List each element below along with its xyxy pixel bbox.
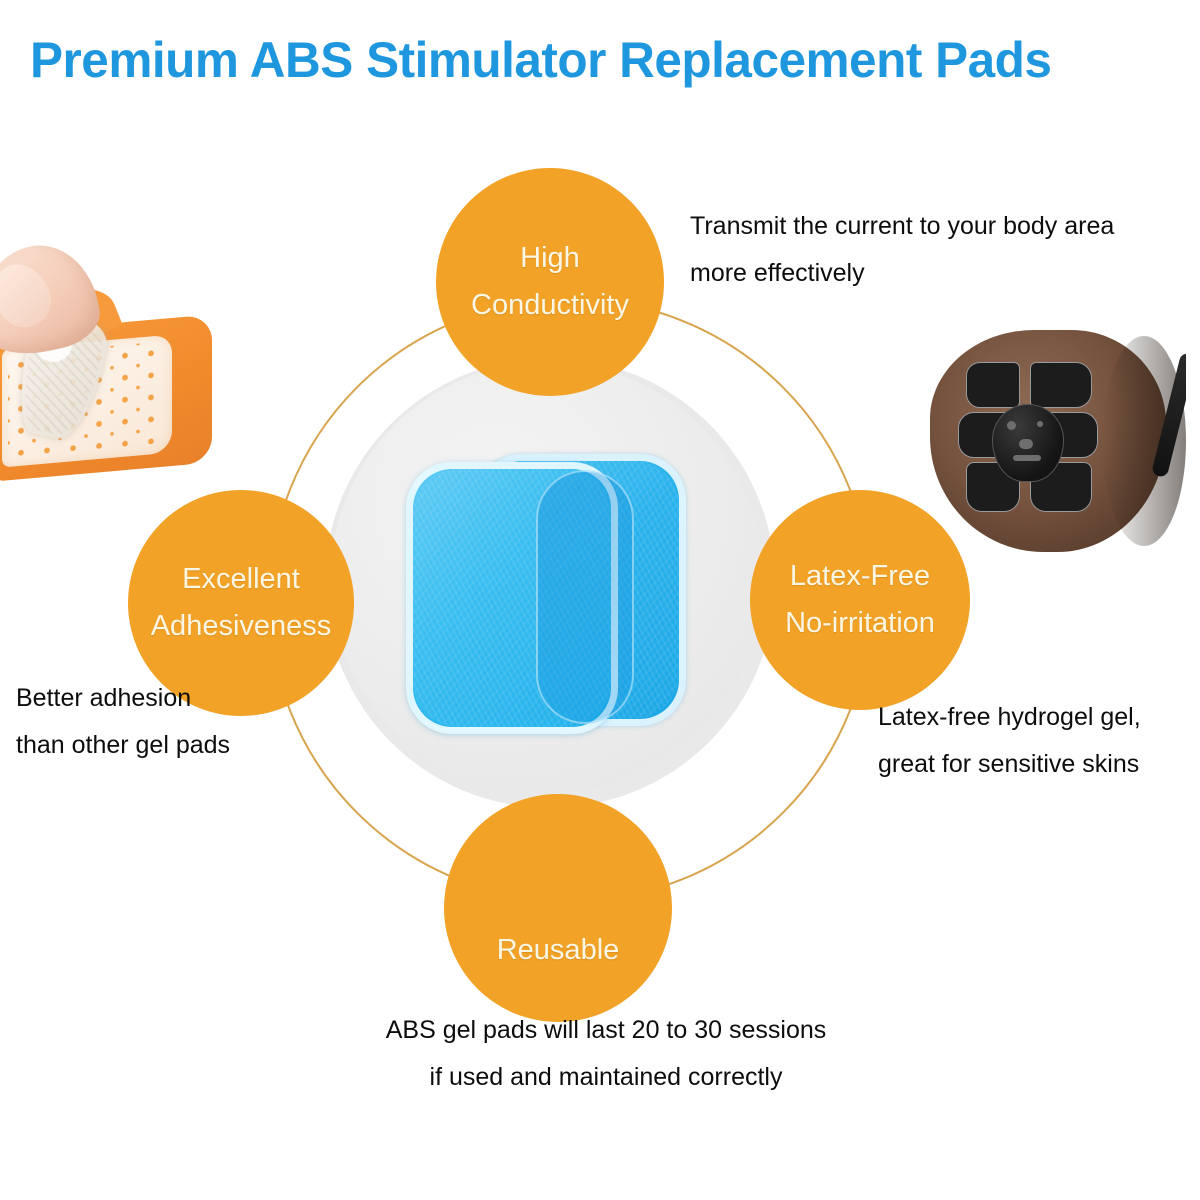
caption-high-conductivity: Transmit the current to your body area m…	[690, 203, 1160, 297]
feature-label-line: Excellent	[182, 556, 300, 603]
caption-line: ABS gel pads will last 20 to 30 sessions	[326, 1007, 886, 1054]
title-bar: Premium ABS Stimulator Replacement Pads	[0, 26, 1200, 98]
caption-line: if used and maintained correctly	[326, 1054, 886, 1101]
fingernail-icon	[0, 255, 60, 336]
abs-stimulator-on-torso-photo	[916, 330, 1186, 552]
feature-circle-latex-free[interactable]: Latex-Free No-irritation	[750, 490, 970, 710]
feature-circle-high-conductivity[interactable]: High Conductivity	[436, 168, 664, 396]
abs-stimulator-device	[958, 360, 1100, 512]
feature-label-line: High	[520, 235, 580, 282]
blue-hydrogel-gel-pads	[398, 448, 698, 738]
page-title: Premium ABS Stimulator Replacement Pads	[30, 26, 1164, 94]
feature-label-line: Adhesiveness	[151, 603, 332, 650]
caption-line: than other gel pads	[16, 722, 316, 769]
gel-pad-capsule-overlay	[536, 470, 634, 724]
hub-button-icon	[1007, 421, 1016, 430]
caption-latex-free: Latex-free hydrogel gel, great for sensi…	[878, 694, 1188, 788]
caption-excellent-adhesiveness: Better adhesion than other gel pads	[16, 675, 316, 769]
caption-line: Better adhesion	[16, 675, 316, 722]
caption-line: Transmit the current to your body area	[690, 203, 1160, 250]
feature-label-line: Conductivity	[471, 282, 629, 329]
abs-pad-top-left	[966, 362, 1020, 408]
infographic-page: Premium ABS Stimulator Replacement Pads	[0, 0, 1200, 1200]
feature-label-line: Reusable	[497, 927, 620, 974]
caption-line: Latex-free hydrogel gel,	[878, 694, 1188, 741]
hub-indicator-icon	[1037, 421, 1043, 427]
abs-pad-top-right	[1030, 362, 1092, 408]
feature-label-line: No-irritation	[785, 600, 935, 647]
hub-display-icon	[1019, 439, 1033, 449]
hub-logo-icon	[1013, 455, 1041, 461]
caption-line: more effectively	[690, 250, 1160, 297]
feature-label-line: Latex-Free	[790, 553, 930, 600]
caption-reusable: ABS gel pads will last 20 to 30 sessions…	[326, 1007, 886, 1101]
caption-line: great for sensitive skins	[878, 741, 1188, 788]
device-control-hub	[992, 404, 1064, 482]
hand-peeling-gel-pad-photo	[0, 246, 232, 478]
feature-circle-reusable[interactable]: Reusable	[444, 794, 672, 1022]
